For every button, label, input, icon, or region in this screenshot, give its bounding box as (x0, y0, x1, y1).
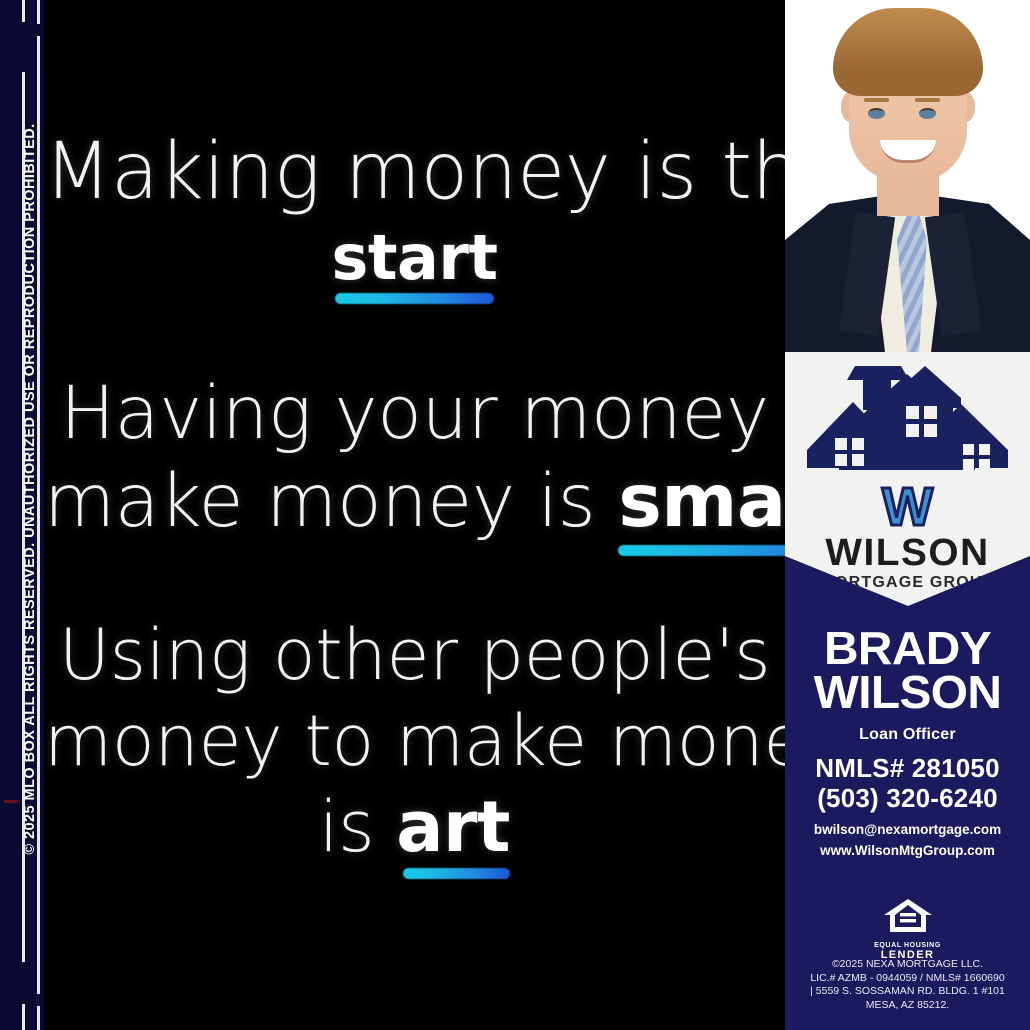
strip-rule-segment (22, 1004, 25, 1030)
emphasis-word: start (331, 221, 497, 294)
eyebrow-right (915, 98, 940, 102)
quote-panel: Making money is the start Having your mo… (44, 0, 785, 1030)
legal-line: ©2025 NEXA MORTGAGE LLC. (791, 958, 1024, 972)
eye-right (919, 108, 936, 119)
strip-rule-segment (37, 1006, 40, 1030)
quote-line: money to make money (44, 698, 785, 784)
agent-phone-number[interactable]: (503) 320-6240 (785, 783, 1030, 813)
social-media-graphic: © 2025 MLO BOX ALL RIGHTS RESERVED. UNAU… (0, 0, 1030, 1030)
legal-line: MESA, AZ 85212. (791, 999, 1024, 1013)
house-cluster-logo-icon (805, 358, 1010, 488)
legal-disclaimer: ©2025 NEXA MORTGAGE LLC. LIC.# AZMB - 09… (791, 958, 1024, 1012)
agent-headshot-photo (785, 0, 1030, 352)
quote-line: Making money is the (44, 126, 785, 218)
logo-wordmark: WILSON (785, 534, 1030, 572)
legal-line: LIC.# AZMB - 0944059 / NMLS# 1660690 (791, 972, 1024, 986)
agent-rail: W WILSON MORTGAGE GROUP BRADY WILSON Loa… (785, 0, 1030, 1030)
agent-nmls-number: NMLS# 281050 (785, 753, 1030, 783)
equal-housing-lender-badge: EQUAL HOUSING LENDER (785, 896, 1030, 961)
emphasis-wrap: start (331, 218, 497, 298)
quote-block-3: Using other people's money to make money… (44, 612, 785, 870)
equal-housing-house-icon (881, 896, 935, 936)
quote-line-prefix: is (319, 786, 396, 868)
watermark-strip: © 2025 MLO BOX ALL RIGHTS RESERVED. UNAU… (0, 0, 44, 1030)
agent-email-address[interactable]: bwilson@nexamortgage.com (785, 822, 1030, 837)
quote-line-prefix: make money is (44, 459, 618, 544)
quote-line-emphasis: make money is smart (44, 458, 785, 546)
copyright-watermark-text: © 2025 MLO BOX ALL RIGHTS RESERVED. UNAU… (15, 0, 44, 989)
accent-underline (403, 868, 510, 879)
agent-job-title: Loan Officer (785, 726, 1030, 744)
quote-block-2: Having your money make money is smart (44, 370, 785, 546)
emphasis-word: art (396, 786, 510, 868)
accent-underline (335, 293, 494, 304)
logo-letter-w: W (785, 480, 1030, 534)
quote-line-emphasis: is art (44, 784, 785, 870)
agent-last-name: WILSON (785, 670, 1030, 714)
quote-line: Having your money (44, 370, 785, 458)
equal-housing-label-line1: EQUAL HOUSING (785, 942, 1030, 949)
quote-block-1: Making money is the start (44, 126, 785, 298)
quote-line-emphasis: start (44, 218, 785, 298)
emphasis-wrap: art (396, 784, 510, 870)
quote-line: Using other people's (44, 612, 785, 698)
eye-left (868, 108, 885, 119)
eyebrow-left (864, 98, 889, 102)
agent-contact-block: BRADY WILSON Loan Officer NMLS# 281050 (… (785, 626, 1030, 858)
agent-first-name: BRADY (785, 626, 1030, 670)
legal-line: | 5559 S. SOSSAMAN RD. BLDG. 1 #101 (791, 985, 1024, 999)
hair (833, 8, 983, 96)
agent-website-url[interactable]: www.WilsonMtgGroup.com (785, 843, 1030, 858)
